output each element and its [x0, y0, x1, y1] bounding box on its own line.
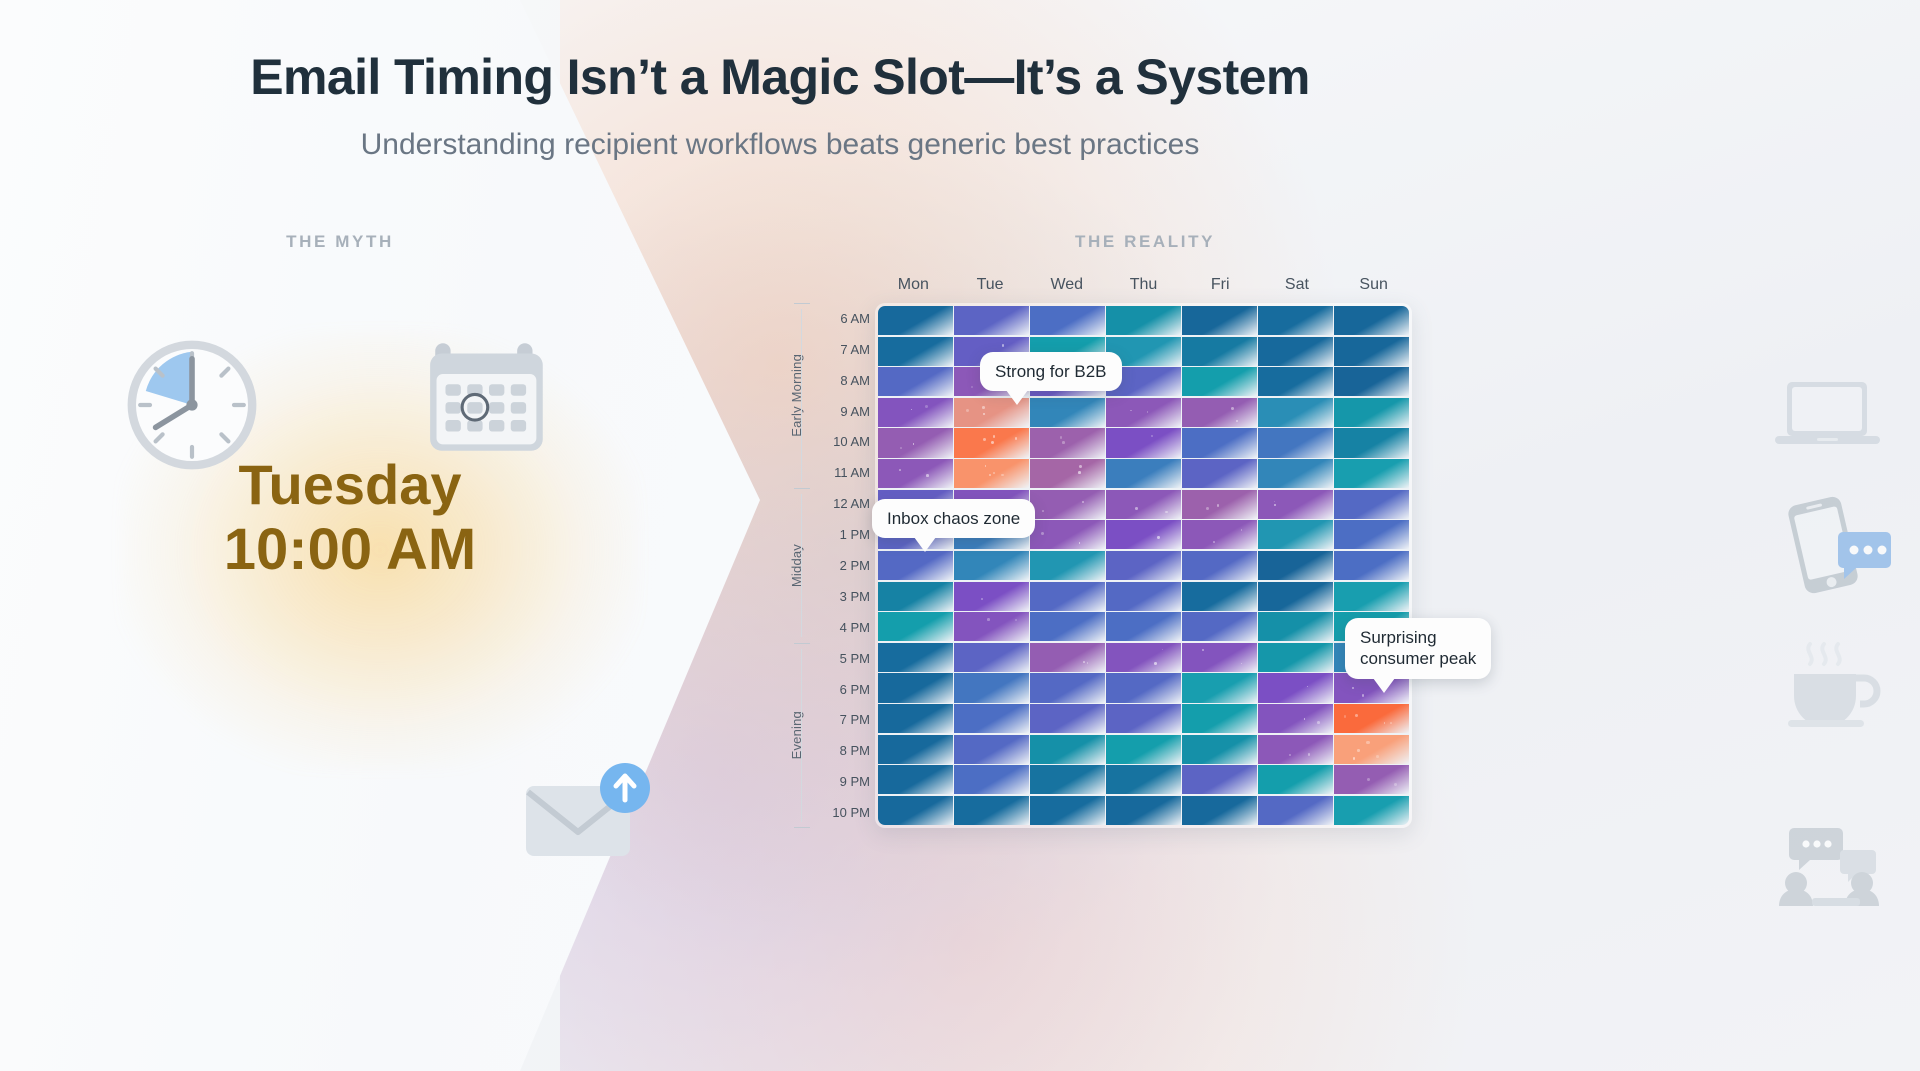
heatmap-cell[interactable]	[1334, 551, 1409, 580]
laptop-icon	[1775, 378, 1880, 455]
heatmap-cell[interactable]	[1258, 428, 1333, 457]
day-label-wed: Wed	[1028, 276, 1105, 294]
calendar-icon	[425, 333, 553, 466]
myth-day: Tuesday	[110, 455, 590, 515]
heatmap-cell[interactable]	[1182, 459, 1257, 488]
cell-speckle	[1376, 755, 1379, 758]
time-label: 7 AM	[812, 334, 870, 365]
heatmap-cell[interactable]	[878, 459, 953, 488]
cell-speckle	[1213, 541, 1215, 543]
heatmap-cell[interactable]	[1030, 704, 1105, 733]
heatmap-cell[interactable]	[954, 643, 1029, 672]
heatmap-cell[interactable]	[1258, 765, 1333, 794]
heatmap-cell[interactable]	[1258, 704, 1333, 733]
cell-speckle	[1241, 529, 1242, 530]
cell-speckle	[983, 413, 984, 414]
cell-speckle	[1001, 474, 1004, 477]
heatmap-cell[interactable]	[1106, 398, 1181, 427]
callout-strong-for-b2b[interactable]: Strong for B2B	[980, 352, 1122, 391]
time-label: 3 PM	[812, 581, 870, 612]
heatmap-cell[interactable]	[1106, 673, 1181, 702]
day-label-thu: Thu	[1105, 276, 1182, 294]
cell-speckle	[1317, 721, 1320, 724]
heatmap-cell[interactable]	[1182, 367, 1257, 396]
heatmap-cell[interactable]	[1030, 765, 1105, 794]
heatmap-cell[interactable]	[1258, 673, 1333, 702]
heatmap-cell[interactable]	[1182, 735, 1257, 764]
heatmap-cell[interactable]	[1030, 643, 1105, 672]
cell-speckle	[1357, 749, 1359, 751]
heatmap-cell[interactable]	[878, 337, 953, 366]
heatmap-cell[interactable]	[878, 398, 953, 427]
cell-speckle	[1236, 420, 1238, 422]
heatmap-cell[interactable]	[1030, 673, 1105, 702]
heatmap-cell[interactable]	[1030, 582, 1105, 611]
period-tick	[794, 827, 810, 828]
heatmap-cell[interactable]	[1334, 490, 1409, 519]
section-label-reality: THE REALITY	[800, 232, 1490, 252]
heatmap-cell[interactable]	[1106, 582, 1181, 611]
coffee-cup-icon	[1782, 640, 1890, 737]
callout-inbox-chaos-zone[interactable]: Inbox chaos zone	[872, 499, 1035, 538]
myth-highlight: Tuesday 10:00 AM	[110, 455, 590, 582]
heatmap-cell[interactable]	[1030, 398, 1105, 427]
cell-speckle	[1147, 411, 1149, 413]
heatmap-cell[interactable]	[1182, 612, 1257, 641]
cell-speckle	[1274, 504, 1276, 506]
cell-speckle	[1289, 754, 1291, 756]
cell-speckle	[1367, 778, 1370, 781]
heatmap-cell[interactable]	[1182, 673, 1257, 702]
heatmap-cell[interactable]	[1258, 643, 1333, 672]
heatmap-cell[interactable]	[878, 704, 953, 733]
heatmap-cell[interactable]	[1030, 551, 1105, 580]
cell-speckle	[983, 438, 986, 441]
time-label: 4 PM	[812, 612, 870, 643]
cell-speckle	[1206, 507, 1209, 510]
heatmap-cell[interactable]	[878, 551, 953, 580]
heatmap-cell[interactable]	[878, 582, 953, 611]
heatmap-cell[interactable]	[1030, 796, 1105, 825]
cell-speckle	[1384, 722, 1386, 724]
day-label-sun: Sun	[1335, 276, 1412, 294]
heatmap-cell[interactable]	[1030, 490, 1105, 519]
heatmap-cell[interactable]	[954, 306, 1029, 335]
heatmap-cell[interactable]	[1258, 398, 1333, 427]
heatmap-cell[interactable]	[1258, 520, 1333, 549]
heatmap-cell[interactable]	[954, 673, 1029, 702]
heatmap-cell[interactable]	[1182, 704, 1257, 733]
period-axis: Early MorningMiddayEvening	[782, 303, 810, 828]
heatmap-cell[interactable]	[1030, 612, 1105, 641]
cell-speckle	[1162, 649, 1163, 650]
heatmap-cell[interactable]	[1258, 490, 1333, 519]
heatmap-cell[interactable]	[1106, 520, 1181, 549]
heatmap-cell[interactable]	[1182, 796, 1257, 825]
heatmap-cell[interactable]	[1030, 520, 1105, 549]
callout-surprising-consumer-peak[interactable]: Surprising consumer peak	[1345, 618, 1491, 679]
cell-speckle	[993, 472, 996, 475]
period-tick	[794, 643, 810, 644]
cell-speckle	[1165, 511, 1167, 513]
day-label-sat: Sat	[1259, 276, 1336, 294]
heatmap-cell[interactable]	[954, 612, 1029, 641]
cell-speckle	[925, 405, 928, 408]
cell-speckle	[899, 469, 901, 471]
cell-speckle	[1087, 662, 1088, 663]
cell-speckle	[913, 443, 915, 445]
heatmap-cell[interactable]	[1258, 612, 1333, 641]
heatmap-cell[interactable]	[954, 551, 1029, 580]
cell-speckle	[1078, 471, 1081, 474]
envelope-send-icon	[520, 760, 650, 870]
period-rule	[801, 494, 802, 636]
cell-speckle	[1135, 507, 1138, 510]
cell-speckle	[1304, 718, 1306, 720]
heatmap-cell[interactable]	[1182, 551, 1257, 580]
heatmap-cell[interactable]	[1258, 367, 1333, 396]
heatmap-cell[interactable]	[878, 306, 953, 335]
heatmap-cell[interactable]	[1106, 704, 1181, 733]
period-tick	[794, 488, 810, 489]
heatmap-cell[interactable]	[878, 428, 953, 457]
heatmap-cell[interactable]	[1334, 704, 1409, 733]
time-label: 11 AM	[812, 457, 870, 488]
meeting-people-icon	[1778, 820, 1894, 911]
period-group: Early Morning	[782, 303, 810, 488]
heatmap-cell[interactable]	[878, 612, 953, 641]
cell-speckle	[1151, 435, 1153, 437]
time-label: 10 AM	[812, 427, 870, 458]
cell-speckle	[1355, 714, 1358, 717]
page-title: Email Timing Isn’t a Magic Slot—It’s a S…	[0, 48, 1560, 106]
period-group: Evening	[782, 643, 810, 828]
cell-speckle	[1157, 536, 1159, 538]
cell-speckle	[1394, 783, 1397, 786]
heatmap-cell[interactable]	[1106, 612, 1181, 641]
heatmap-cell[interactable]	[1030, 459, 1105, 488]
time-label: 12 AM	[812, 488, 870, 519]
cell-speckle	[911, 409, 913, 411]
cell-speckle	[1307, 686, 1309, 688]
heatmap-cell[interactable]	[878, 765, 953, 794]
cell-speckle	[1154, 662, 1157, 665]
heatmap-cell[interactable]	[954, 765, 1029, 794]
phone-chat-icon	[1782, 490, 1894, 599]
cell-speckle	[991, 441, 994, 444]
cell-speckle	[1366, 741, 1369, 744]
heatmap-cell[interactable]	[878, 673, 953, 702]
cell-speckle	[1015, 619, 1017, 621]
heatmap-cell[interactable]	[1106, 765, 1181, 794]
heatmap-cell[interactable]	[1030, 735, 1105, 764]
cell-speckle	[1241, 663, 1242, 664]
heatmap-cell[interactable]	[1106, 306, 1181, 335]
period-rule	[801, 309, 802, 482]
heatmap-cell[interactable]	[1258, 796, 1333, 825]
cell-speckle	[993, 435, 995, 437]
cell-speckle	[900, 447, 902, 449]
heatmap-cell[interactable]	[1334, 796, 1409, 825]
heatmap-cell[interactable]	[954, 796, 1029, 825]
cell-speckle	[1079, 542, 1081, 544]
cell-speckle	[1217, 504, 1220, 507]
myth-time: 10:00 AM	[110, 519, 590, 582]
page-subtitle: Understanding recipient workflows beats …	[0, 128, 1560, 162]
cell-speckle	[1308, 753, 1311, 756]
heatmap-cell[interactable]	[1258, 551, 1333, 580]
day-label-mon: Mon	[875, 276, 952, 294]
heatmap-cell[interactable]	[878, 796, 953, 825]
heatmap-cell[interactable]	[1334, 337, 1409, 366]
heatmap-cell[interactable]	[954, 704, 1029, 733]
heatmap-cell[interactable]	[1334, 582, 1409, 611]
time-label: 8 AM	[812, 365, 870, 396]
heatmap-cell[interactable]	[1106, 735, 1181, 764]
heatmap-cell[interactable]	[954, 428, 1029, 457]
heatmap-cell[interactable]	[1334, 735, 1409, 764]
day-label-tue: Tue	[952, 276, 1029, 294]
heatmap-cell[interactable]	[1106, 428, 1181, 457]
heatmap-cell[interactable]	[1334, 765, 1409, 794]
cell-speckle	[971, 386, 973, 388]
cell-speckle	[1083, 661, 1085, 663]
heatmap-cell[interactable]	[954, 459, 1029, 488]
time-label: 9 AM	[812, 396, 870, 427]
heatmap-cell[interactable]	[1334, 398, 1409, 427]
time-label: 6 AM	[812, 303, 870, 334]
heatmap-cell[interactable]	[1106, 643, 1181, 672]
heatmap-cell[interactable]	[1182, 428, 1257, 457]
time-label: 8 PM	[812, 735, 870, 766]
cell-speckle	[982, 406, 985, 409]
time-label: 6 PM	[812, 674, 870, 705]
cell-speckle	[1130, 410, 1132, 412]
heatmap-cell[interactable]	[1182, 520, 1257, 549]
cell-speckle	[1352, 687, 1354, 689]
cell-speckle	[1079, 465, 1082, 468]
cell-speckle	[966, 409, 969, 412]
cell-speckle	[985, 465, 986, 466]
cell-speckle	[926, 474, 929, 477]
heatmap-cell[interactable]	[954, 735, 1029, 764]
cell-speckle	[1062, 441, 1065, 444]
heatmap-cell[interactable]	[1334, 428, 1409, 457]
heatmap-cell[interactable]	[1334, 520, 1409, 549]
cell-speckle	[1353, 757, 1356, 760]
heatmap-cell[interactable]	[1334, 306, 1409, 335]
cell-speckle	[1390, 722, 1392, 724]
heatmap-cell[interactable]	[1030, 306, 1105, 335]
cell-speckle	[1344, 715, 1346, 717]
heatmap-cell[interactable]	[1258, 735, 1333, 764]
heatmap-cell[interactable]	[1334, 459, 1409, 488]
time-label: 10 PM	[812, 797, 870, 828]
time-label: 5 PM	[812, 643, 870, 674]
period-tick	[794, 303, 810, 304]
heatmap-cell[interactable]	[1334, 367, 1409, 396]
day-axis-labels: MonTueWedThuFriSatSun	[875, 276, 1412, 294]
cell-speckle	[1002, 344, 1005, 347]
heatmap-cell[interactable]	[1106, 796, 1181, 825]
cell-speckle	[1042, 510, 1044, 512]
cell-speckle	[987, 618, 990, 621]
heatmap-cell[interactable]	[1182, 337, 1257, 366]
cell-speckle	[1231, 407, 1234, 410]
section-label-myth: THE MYTH	[0, 232, 680, 252]
heatmap-cell[interactable]	[878, 643, 953, 672]
heatmap-cell[interactable]	[1182, 398, 1257, 427]
cell-speckle	[1060, 436, 1062, 438]
time-label: 2 PM	[812, 550, 870, 581]
heatmap-cell[interactable]	[878, 735, 953, 764]
day-label-fri: Fri	[1182, 276, 1259, 294]
cell-speckle	[1274, 501, 1275, 502]
time-label: 9 PM	[812, 766, 870, 797]
time-label: 1 PM	[812, 519, 870, 550]
heatmap-cell[interactable]	[1182, 643, 1257, 672]
cell-speckle	[1041, 532, 1044, 535]
heatmap-cell[interactable]	[1106, 459, 1181, 488]
time-label: 7 PM	[812, 704, 870, 735]
heatmap-cell[interactable]	[1182, 765, 1257, 794]
period-rule	[801, 649, 802, 822]
time-axis-labels: 6 AM7 AM8 AM9 AM10 AM11 AM12 AM1 PM2 PM3…	[812, 303, 870, 828]
heatmap-cell[interactable]	[1182, 582, 1257, 611]
heatmap-cell[interactable]	[954, 582, 1029, 611]
heatmap-cell[interactable]	[1182, 490, 1257, 519]
heatmap-cell[interactable]	[1182, 306, 1257, 335]
heatmap-grid[interactable]	[878, 306, 1409, 825]
heatmap-card[interactable]	[875, 303, 1412, 828]
cell-speckle	[1015, 437, 1018, 440]
heatmap-cell[interactable]	[1258, 459, 1333, 488]
heatmap-cell[interactable]	[1106, 490, 1181, 519]
cell-speckle	[989, 474, 991, 476]
cell-speckle	[1202, 649, 1205, 652]
heatmap-cell[interactable]	[878, 367, 953, 396]
heatmap-cell[interactable]	[1258, 582, 1333, 611]
heatmap-cell[interactable]	[1106, 551, 1181, 580]
heatmap-cell[interactable]	[1258, 337, 1333, 366]
period-group: Midday	[782, 488, 810, 642]
heatmap-cell[interactable]	[1258, 306, 1333, 335]
cell-speckle	[981, 598, 983, 600]
cell-speckle	[1082, 501, 1084, 503]
heatmap-cell[interactable]	[1030, 428, 1105, 457]
cell-speckle	[1362, 694, 1364, 696]
